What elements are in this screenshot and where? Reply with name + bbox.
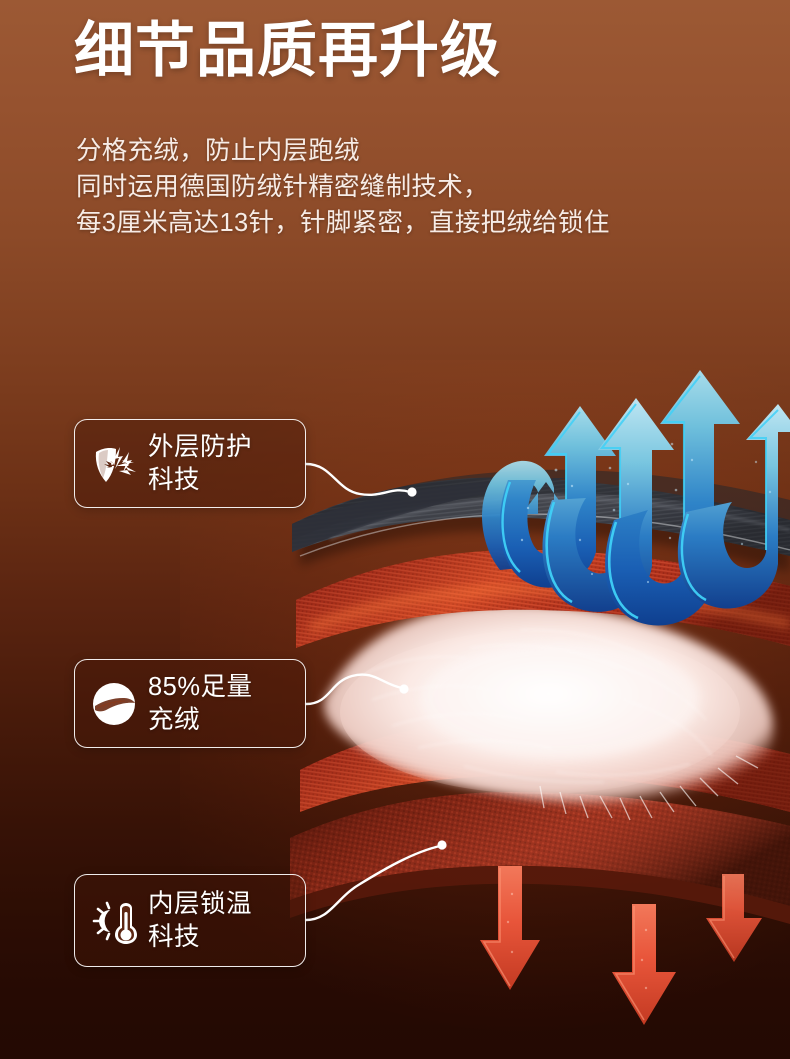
badge-2-line-1: 85%足量 [148, 673, 253, 701]
sun-thermometer-icon [87, 894, 141, 948]
badge-3-line-2: 科技 [148, 923, 200, 951]
page-subtitle: 分格充绒，防止内层跑绒 同时运用德国防绒针精密缝制技术， 每3厘米高达13针，针… [76, 133, 610, 241]
badge-2-text: 85%足量 充绒 [148, 671, 253, 737]
product-detail-page: 细节品质再升级 分格充绒，防止内层跑绒 同时运用德国防绒针精密缝制技术， 每3厘… [0, 0, 790, 1059]
feature-badge-down-fill[interactable]: 85%足量 充绒 [74, 659, 306, 748]
heat-arrow-2 [612, 904, 676, 1025]
badge-3-text: 内层锁温 科技 [148, 888, 252, 954]
subtitle-line-1: 分格充绒，防止内层跑绒 [76, 133, 610, 169]
feature-badge-inner-warmth[interactable]: 内层锁温 科技 [74, 874, 306, 967]
badge-3-line-1: 内层锁温 [148, 890, 252, 918]
heat-arrow-1 [480, 866, 540, 990]
feature-badge-outer-protection[interactable]: 外层防护 科技 [74, 419, 306, 508]
badge-1-text: 外层防护 科技 [148, 431, 252, 497]
subtitle-line-3: 每3厘米高达13针，针脚紧密，直接把绒给锁住 [76, 205, 610, 241]
shield-lightning-icon [87, 437, 141, 491]
badge-1-line-2: 科技 [148, 466, 200, 494]
layer-down-fill [324, 603, 773, 820]
feather-circle-icon [87, 677, 141, 731]
page-title: 细节品质再升级 [74, 17, 501, 84]
badge-2-line-2: 充绒 [148, 706, 200, 734]
layer-inner-mesh [290, 792, 790, 924]
badge-1-line-1: 外层防护 [148, 433, 252, 461]
subtitle-line-2: 同时运用德国防绒针精密缝制技术， [76, 169, 610, 205]
